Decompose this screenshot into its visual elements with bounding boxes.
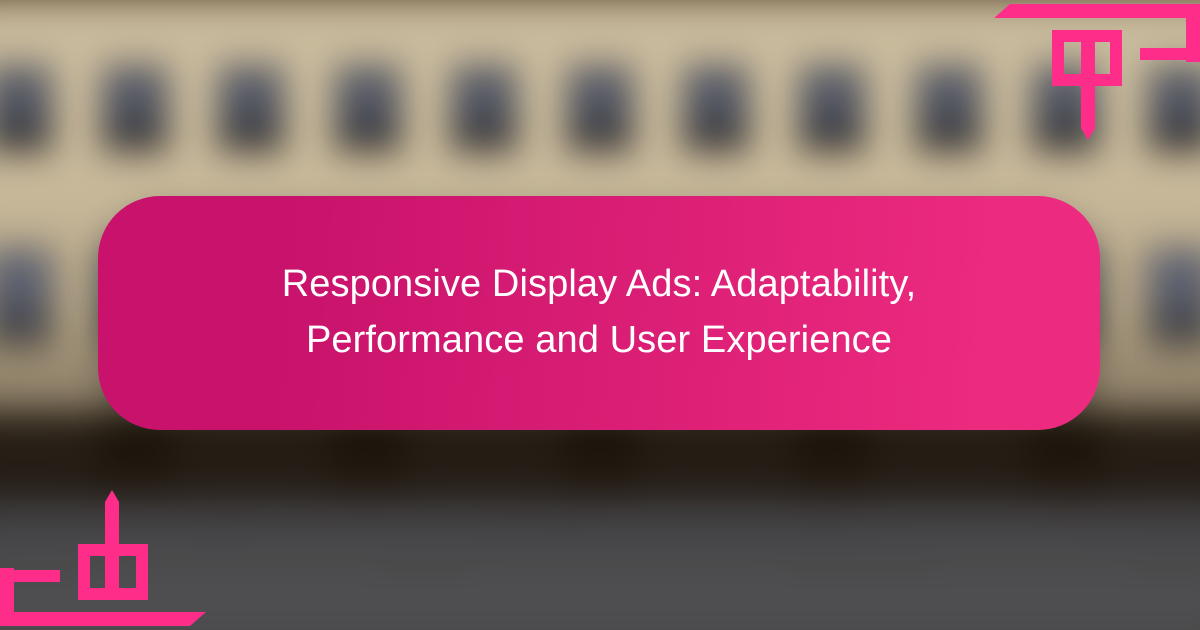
page-title: Responsive Display Ads: Adaptability, Pe…: [168, 257, 1030, 369]
title-banner: Responsive Display Ads: Adaptability, Pe…: [98, 196, 1100, 430]
banner-canvas: Responsive Display Ads: Adaptability, Pe…: [0, 0, 1200, 630]
